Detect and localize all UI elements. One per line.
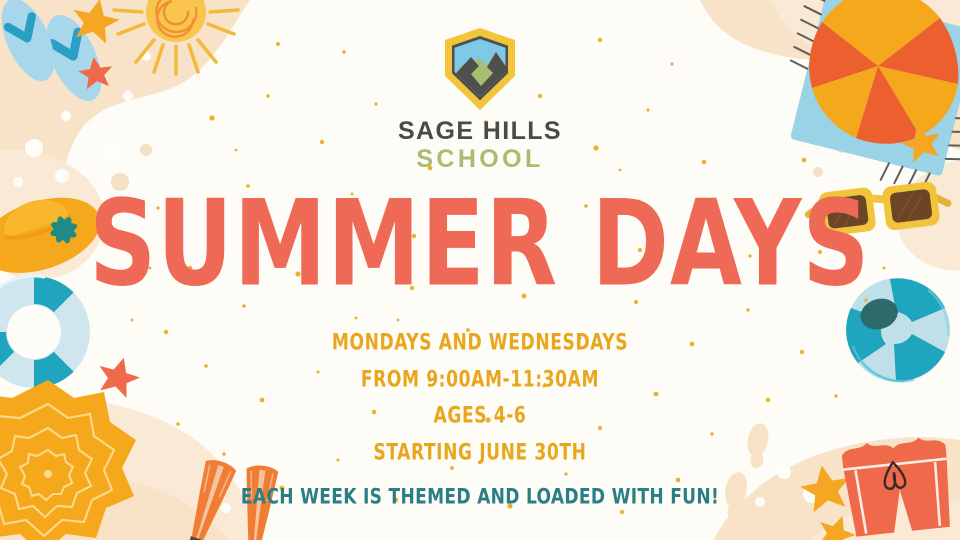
- detail-line-ages: AGES 4-6: [332, 405, 628, 427]
- schedule-details: MONDAYS AND WEDNESDAYS FROM 9:00AM-11:30…: [332, 332, 628, 478]
- detail-line-time: FROM 9:00AM-11:30AM: [332, 369, 628, 391]
- logo-name-line1: SAGE HILLS: [398, 119, 562, 145]
- mountain-shield-logo-icon: [441, 26, 519, 112]
- detail-line-days: MONDAYS AND WEDNESDAYS: [332, 332, 628, 354]
- logo-name-line2: SCHOOL: [398, 147, 562, 173]
- page-title: SUMMER DAYS: [89, 184, 870, 303]
- school-logo: SAGE HILLS SCHOOL: [398, 26, 562, 172]
- tagline: EACH WEEK IS THEMED AND LOADED WITH FUN!: [241, 485, 719, 509]
- summer-days-flyer: SAGE HILLS SCHOOL SUMMER DAYS MONDAYS AN…: [0, 0, 960, 540]
- detail-line-start-date: STARTING JUNE 30TH: [332, 442, 628, 464]
